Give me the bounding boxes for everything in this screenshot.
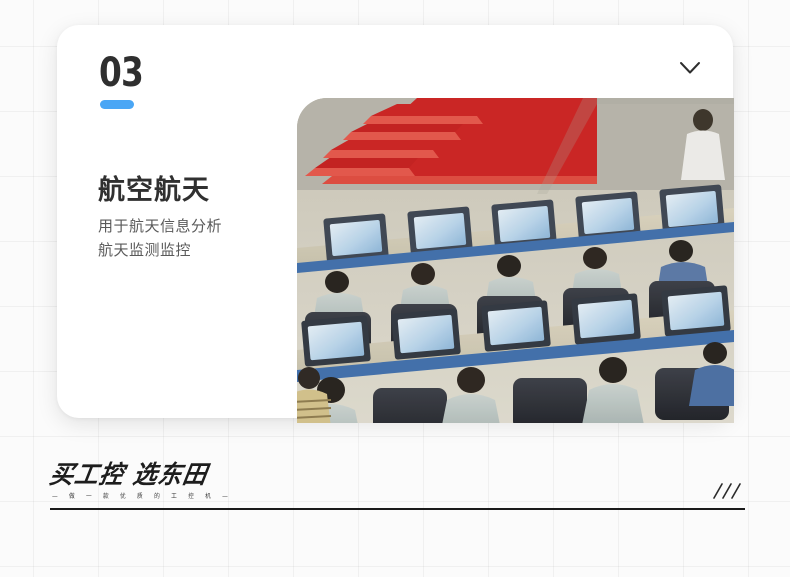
card-text-block: 航空航天 用于航天信息分析 航天监测监控 bbox=[98, 175, 308, 262]
brand-logo-text: 买工控 选东田 bbox=[48, 462, 218, 488]
slash-marks-icon bbox=[710, 483, 744, 499]
card-subtitle-line-1: 用于航天信息分析 bbox=[98, 215, 308, 238]
card-subtitle-line-2: 航天监测监控 bbox=[98, 239, 308, 262]
card-index-number: 03 bbox=[99, 53, 143, 93]
chevron-down-icon[interactable] bbox=[677, 55, 703, 81]
brand-logo-tagline: — 做 一 款 优 质 的 工 控 机 — bbox=[52, 491, 218, 500]
feature-card: 03 航空航天 用于航天信息分析 航天监测监控 bbox=[57, 25, 733, 418]
page-title: 航空航天 bbox=[98, 175, 308, 207]
page-canvas: 03 航空航天 用于航天信息分析 航天监测监控 bbox=[0, 0, 790, 577]
accent-bar bbox=[100, 100, 134, 109]
brand-logo: 买工控 选东田 — 做 一 款 优 质 的 工 控 机 — bbox=[52, 462, 227, 507]
aerospace-control-room-photo bbox=[297, 98, 734, 423]
footer-divider bbox=[50, 508, 745, 510]
